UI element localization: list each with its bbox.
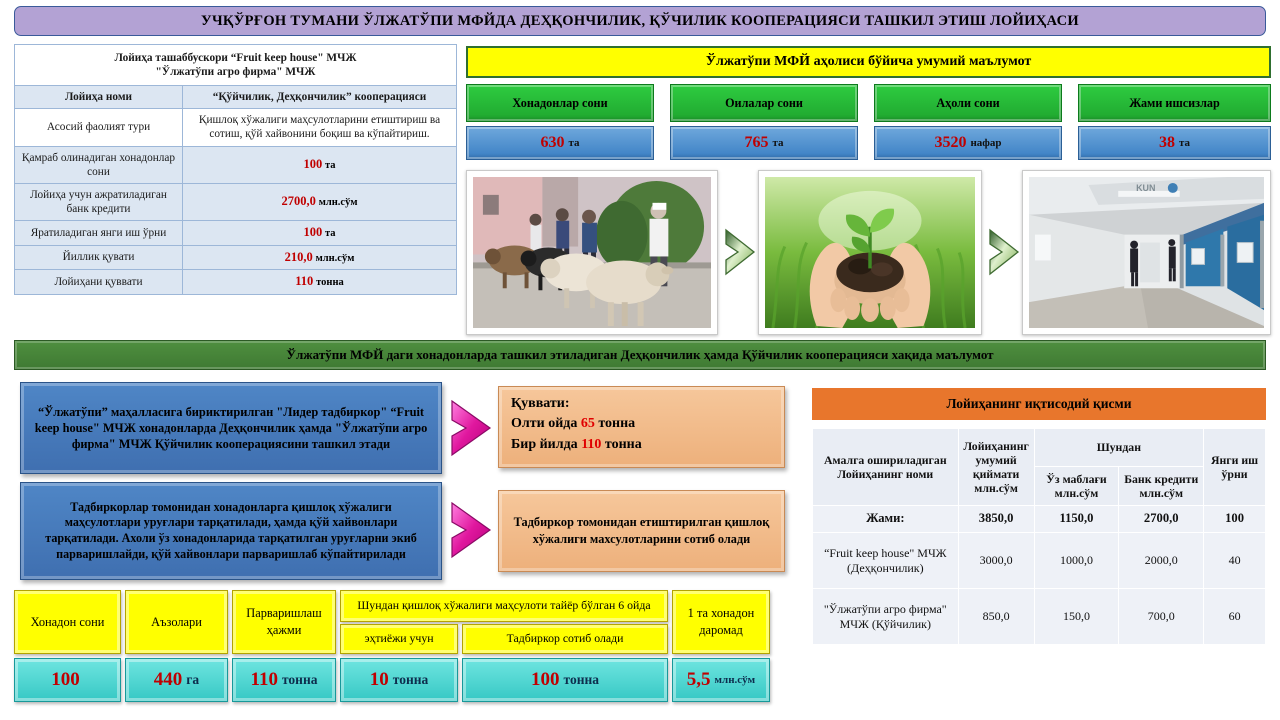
row-unit: та	[325, 228, 336, 239]
stat-population: Аҳоли сони 3520 нафар	[874, 84, 1062, 160]
cell-credit: 700,0	[1119, 589, 1204, 645]
capacity-title: Қуввати:	[511, 394, 772, 414]
col-new-jobs: Янги иш ўрни	[1204, 429, 1266, 506]
left-table-header-line2: "Ўлжатўпи агро фирма" МЧЖ	[156, 66, 316, 78]
row-value: 100 та	[183, 146, 457, 183]
row-number: 100	[303, 225, 322, 239]
stat-label: Хонадонлар сони	[466, 84, 654, 122]
row-unit: тонна	[316, 277, 344, 288]
stat-unit: та	[568, 137, 579, 149]
table-row: Лойиҳа учун ажратиладиган банк кредити 2…	[15, 183, 457, 220]
table-row: Яратиладиган янги иш ўрни 100 та	[15, 220, 457, 245]
cell-name: "Ўлжатўпи агро фирма" МЧЖ (Қўйчилик)	[813, 589, 959, 645]
value-unit: тонна	[563, 672, 599, 688]
value-entrepreneur-buys: 100 тонна	[462, 658, 668, 702]
economic-section-title: Лойиҳанинг иқтисодий қисми	[812, 388, 1266, 420]
col-bank-credit: Банк кредити млн.сўм	[1119, 467, 1204, 506]
row-number: 2700,0	[282, 194, 316, 208]
table-header-row: Амалга ошириладиган Лойиҳанинг номи Лойи…	[813, 429, 1266, 467]
stat-number: 38	[1159, 134, 1175, 152]
corridor-photo: KUN	[1022, 170, 1271, 335]
chevron-right-icon	[724, 228, 758, 276]
stat-value: 765 та	[670, 126, 858, 160]
cell-total: 3850,0	[958, 506, 1034, 533]
row-unit: млн.сўм	[316, 253, 355, 264]
capacity-box: Қуввати: Олти ойда 65 тонна Бир йилда 11…	[498, 386, 785, 468]
population-banner: Ўлжатўпи МФЙ аҳолиси бўйича умумий маълу…	[466, 46, 1271, 78]
cell-own: 1000,0	[1034, 533, 1119, 589]
value-unit: млн.сўм	[715, 674, 756, 686]
col-project-name: Амалга ошириладиган Лойиҳанинг номи	[813, 429, 959, 506]
stat-number: 630	[540, 134, 564, 152]
row-label: Лойиҳа учун ажратиладиган банк кредити	[15, 183, 183, 220]
cell-jobs: 100	[1204, 506, 1266, 533]
seedling-illustration	[765, 177, 975, 328]
left-table-header-line1: Лойиҳа ташаббускори “Fruit keep house" М…	[114, 52, 356, 64]
project-info-table: Лойиҳа ташаббускори “Fruit keep house" М…	[14, 44, 457, 295]
stat-label: Жами ишсизлар	[1078, 84, 1271, 122]
capacity-six-month-value: 65	[581, 416, 595, 431]
table-row: Лойиҳа номи “Қўйчилик, Деҳқончилик” кооп…	[15, 86, 457, 109]
stat-unit: та	[772, 137, 783, 149]
label-care-volume: Парваришлаш ҳажми	[232, 590, 336, 654]
label-one-household-income: 1 та хонадон даромад	[672, 590, 770, 654]
seedling-photo-image	[765, 177, 975, 328]
table-row: Йиллик қувати 210,0 млн.сўм	[15, 245, 457, 270]
row-number: 210,0	[285, 250, 313, 264]
row-unit: та	[325, 160, 336, 171]
value-unit: тонна	[393, 672, 429, 688]
row-value: 100 та	[183, 220, 457, 245]
cell-own: 150,0	[1034, 589, 1119, 645]
row-value: Қишлоқ хўжалиги маҳсулотларини етиштириш…	[183, 109, 457, 146]
row-value: “Қўйчилик, Деҳқончилик” кооперацияси	[183, 86, 457, 109]
cell-total: 850,0	[958, 589, 1034, 645]
row-label: Лойиҳани қуввати	[15, 270, 183, 295]
value-number: 10	[370, 669, 389, 691]
row-label: Қамраб олинадиган хонадонлар сони	[15, 146, 183, 183]
row-number: 100	[303, 157, 322, 171]
value-unit: тонна	[282, 672, 318, 688]
photo-strip: KUN	[466, 170, 1271, 335]
col-total-value: Лойиҳанинг умумий қиймати млн.сўм	[958, 429, 1034, 506]
value-number: 100	[531, 669, 560, 691]
value-number: 110	[251, 669, 278, 691]
sheep-illustration	[473, 177, 711, 328]
value-unit: га	[186, 672, 199, 688]
entrepreneur-purchase-box: Тадбиркор томонидан етиштирилган қишлоқ …	[498, 490, 785, 572]
cell-credit: 2700,0	[1119, 506, 1204, 533]
row-unit: млн.сўм	[319, 197, 358, 208]
label-ready-in-six-months: Шундан қишлоқ хўжалиги маҳсулоти тайёр б…	[340, 590, 668, 622]
chevron-right-icon	[448, 500, 494, 560]
cell-total: 3000,0	[958, 533, 1034, 589]
capacity-line-1: Олти ойда 65 тонна	[511, 414, 772, 434]
stat-number: 3520	[934, 134, 966, 152]
slide-root: УЧҚЎРҒОН ТУМАНИ ЎЛЖАТЎПИ МФЙДА ДЕҲҚОНЧИЛ…	[0, 0, 1280, 720]
population-stats: Хонадонлар сони 630 та Оилалар сони 765 …	[466, 84, 1271, 164]
value-for-needs: 10 тонна	[340, 658, 458, 702]
col-own-funds: Ўз маблағи млн.сўм	[1034, 467, 1119, 506]
value-members: 440 га	[125, 658, 228, 702]
table-row: Қамраб олинадиган хонадонлар сони 100 та	[15, 146, 457, 183]
value-number: 100	[51, 669, 80, 691]
cell-name: Жами:	[813, 506, 959, 533]
economic-table: Амалга ошириладиган Лойиҳанинг номи Лойи…	[812, 428, 1266, 645]
cell-jobs: 60	[1204, 589, 1266, 645]
row-value: 2700,0 млн.сўм	[183, 183, 457, 220]
stat-label: Оилалар сони	[670, 84, 858, 122]
cell-credit: 2000,0	[1119, 533, 1204, 589]
process-step-1-box: “Ўлжатўпи” маҳалласига бириктирилган "Ли…	[20, 382, 442, 474]
sheep-photo	[466, 170, 718, 335]
col-shundan: Шундан	[1034, 429, 1204, 467]
stat-value: 38 та	[1078, 126, 1271, 160]
value-one-household-income: 5,5 млн.сўм	[672, 658, 770, 702]
table-row: Лойиҳа ташаббускори “Fruit keep house" М…	[15, 45, 457, 86]
corridor-illustration: KUN	[1029, 177, 1264, 328]
cell-name: “Fruit keep house" МЧЖ (Деҳқончилик)	[813, 533, 959, 589]
cell-own: 1150,0	[1034, 506, 1119, 533]
corridor-photo-image: KUN	[1029, 177, 1264, 328]
row-label: Йиллик қувати	[15, 245, 183, 270]
label-members: Аъзолари	[125, 590, 228, 654]
label-for-needs: эҳтиёжи учун	[340, 624, 458, 654]
chevron-right-icon	[988, 228, 1022, 276]
row-number: 110	[295, 274, 313, 288]
capacity-year-value: 110	[581, 437, 601, 452]
value-number: 5,5	[687, 669, 711, 691]
row-value: 110 тонна	[183, 270, 457, 295]
stat-label: Аҳоли сони	[874, 84, 1062, 122]
row-value: 210,0 млн.сўм	[183, 245, 457, 270]
table-row: Асосий фаолият тури Қишлоқ хўжалиги маҳс…	[15, 109, 457, 146]
value-number: 440	[154, 669, 183, 691]
process-step-2-box: Тадбиркорлар томонидан хонадонларга қишл…	[20, 482, 442, 580]
left-table-header: Лойиҳа ташаббускори “Fruit keep house" М…	[15, 45, 457, 86]
table-row: Лойиҳани қуввати 110 тонна	[15, 270, 457, 295]
table-row: Жами: 3850,0 1150,0 2700,0 100	[813, 506, 1266, 533]
label-household-count: Хонадон сони	[14, 590, 121, 654]
stat-number: 765	[744, 134, 768, 152]
sheep-photo-image	[473, 177, 711, 328]
chevron-right-icon	[448, 398, 494, 458]
page-title: УЧҚЎРҒОН ТУМАНИ ЎЛЖАТЎПИ МФЙДА ДЕҲҚОНЧИЛ…	[14, 6, 1266, 36]
label-entrepreneur-buys: Тадбиркор сотиб олади	[462, 624, 668, 654]
stat-unit: нафар	[970, 137, 1001, 149]
stat-households: Хонадонлар сони 630 та	[466, 84, 654, 160]
stat-value: 630 та	[466, 126, 654, 160]
value-care-volume: 110 тонна	[232, 658, 336, 702]
stat-unit: та	[1179, 137, 1190, 149]
stat-value: 3520 нафар	[874, 126, 1062, 160]
table-row: "Ўлжатўпи агро фирма" МЧЖ (Қўйчилик) 850…	[813, 589, 1266, 645]
value-household-count: 100	[14, 658, 121, 702]
cell-jobs: 40	[1204, 533, 1266, 589]
svg-text:KUN: KUN	[1136, 183, 1155, 193]
stat-families: Оилалар сони 765 та	[670, 84, 858, 160]
coop-info-banner: Ўлжатўпи МФЙ даги хонадонларда ташкил эт…	[14, 340, 1266, 370]
table-row: “Fruit keep house" МЧЖ (Деҳқончилик) 300…	[813, 533, 1266, 589]
row-label: Яратиладиган янги иш ўрни	[15, 220, 183, 245]
row-label: Асосий фаолият тури	[15, 109, 183, 146]
seedling-in-hands-photo	[758, 170, 982, 335]
stat-unemployed: Жами ишсизлар 38 та	[1078, 84, 1271, 160]
row-label: Лойиҳа номи	[15, 86, 183, 109]
capacity-line-2: Бир йилда 110 тонна	[511, 435, 772, 455]
